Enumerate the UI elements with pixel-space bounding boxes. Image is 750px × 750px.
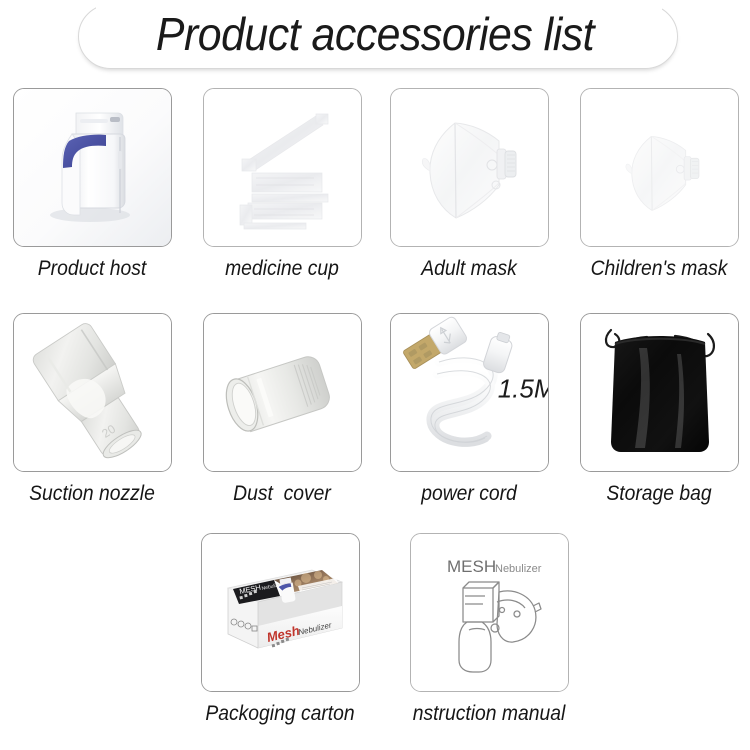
- item-label: nstruction manual: [412, 701, 567, 727]
- card-children-mask[interactable]: [580, 88, 739, 247]
- card-packaging-carton[interactable]: MESH Nebulizer: [201, 533, 360, 692]
- grid-item-adult-mask: Adult mask: [385, 88, 553, 282]
- adult-mask-image: [391, 89, 548, 246]
- dust-cover-image: [204, 314, 361, 471]
- card-medicine-cup[interactable]: [203, 88, 362, 247]
- item-label: Dust cover: [205, 481, 360, 507]
- instruction-manual-image: MESH Nebulizer: [411, 534, 568, 691]
- suction-nozzle-image: 20: [14, 314, 171, 471]
- card-adult-mask[interactable]: [390, 88, 549, 247]
- grid-item-power-cord: 1.5M power cord: [385, 313, 553, 507]
- product-host-image: [14, 89, 171, 246]
- item-label: power cord: [392, 481, 547, 507]
- grid-item-packaging-carton: MESH Nebulizer: [196, 533, 364, 727]
- storage-bag-image: [581, 314, 738, 471]
- grid-item-storage-bag: Storage bag: [575, 313, 743, 507]
- card-instruction-manual[interactable]: MESH Nebulizer: [410, 533, 569, 692]
- manual-brand-text: MESH: [447, 557, 496, 576]
- page-header: Product accessories list: [0, 0, 750, 80]
- card-storage-bag[interactable]: [580, 313, 739, 472]
- packaging-carton-image: MESH Nebulizer: [202, 534, 359, 691]
- item-label: Suction nozzle: [15, 481, 170, 507]
- cable-length-label: 1.5M: [498, 374, 549, 405]
- item-label: Packoging carton: [203, 701, 358, 727]
- grid-item-medicine-cup: medicine cup: [198, 88, 366, 282]
- item-label: Adult mask: [392, 256, 547, 282]
- page-title: Product accessories list: [26, 6, 724, 62]
- grid-item-suction-nozzle: 20 Suction nozzle: [8, 313, 176, 507]
- card-dust-cover[interactable]: [203, 313, 362, 472]
- item-label: Children's mask: [582, 256, 737, 282]
- item-label: Storage bag: [582, 481, 737, 507]
- grid-item-instruction-manual: MESH Nebulizer: [405, 533, 573, 727]
- card-product-host[interactable]: [13, 88, 172, 247]
- medicine-cup-image: [204, 89, 361, 246]
- item-label: medicine cup: [205, 256, 360, 282]
- grid-item-children-mask: Children's mask: [575, 88, 743, 282]
- manual-brand-sub-text: Nebulizer: [495, 563, 542, 575]
- children-mask-image: [581, 89, 738, 246]
- accessories-page: Product accessories list: [0, 0, 750, 750]
- card-suction-nozzle[interactable]: 20: [13, 313, 172, 472]
- grid-item-product-host: Product host: [8, 88, 176, 282]
- card-power-cord[interactable]: 1.5M: [390, 313, 549, 472]
- item-label: Product host: [15, 256, 170, 282]
- grid-item-dust-cover: Dust cover: [198, 313, 366, 507]
